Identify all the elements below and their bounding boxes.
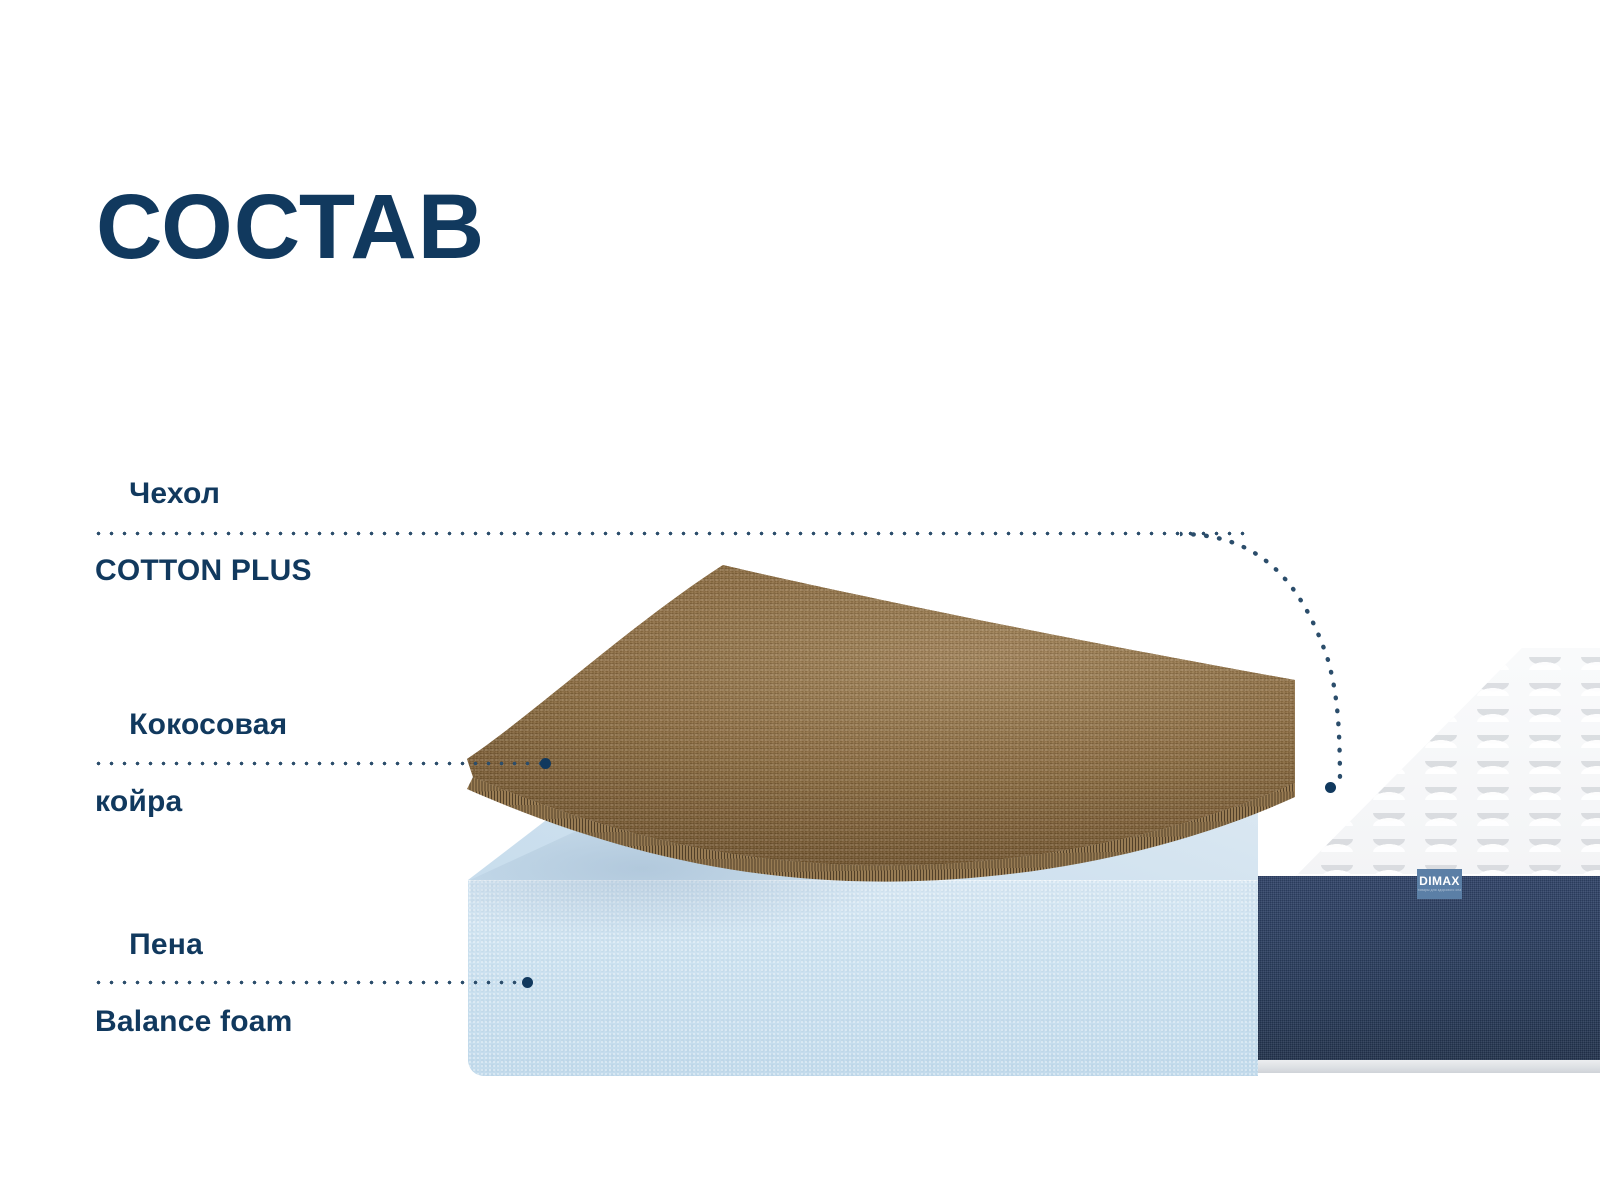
- leader-endpoint-cover: [1325, 782, 1336, 793]
- layer-base-side-denim: [1237, 876, 1600, 1060]
- callout-cover: Чехол COTTON PLUS: [95, 437, 312, 667]
- callout-cover-line2: COTTON PLUS: [95, 552, 312, 590]
- callout-foam: Пена Balance foam: [95, 888, 292, 1118]
- dimax-brand-tag: DIMAX товары для здорового сна: [1417, 869, 1462, 899]
- infographic-canvas: СОСТАВ DIMAX товары для здорового сна: [0, 0, 1600, 1201]
- callout-coir-line1: Кокосовая: [129, 708, 287, 741]
- leader-endpoint-foam: [522, 977, 533, 988]
- base-bottom-trim: [1237, 1060, 1600, 1073]
- callout-foam-line2: Balance foam: [95, 1003, 292, 1041]
- leader-endpoint-coir: [540, 758, 551, 769]
- callout-coir: Кокосовая койра: [95, 668, 287, 898]
- dimax-brand-subtitle: товары для здорового сна: [1418, 889, 1462, 893]
- page-title: СОСТАВ: [96, 181, 485, 273]
- dimax-brand-name: DIMAX: [1419, 875, 1460, 887]
- foam-front-face: [468, 880, 1258, 1076]
- callout-cover-line1: Чехол: [129, 477, 220, 510]
- foam-grain-texture: [468, 880, 1258, 1076]
- callout-coir-line2: койра: [95, 783, 287, 821]
- callout-foam-line1: Пена: [129, 928, 203, 961]
